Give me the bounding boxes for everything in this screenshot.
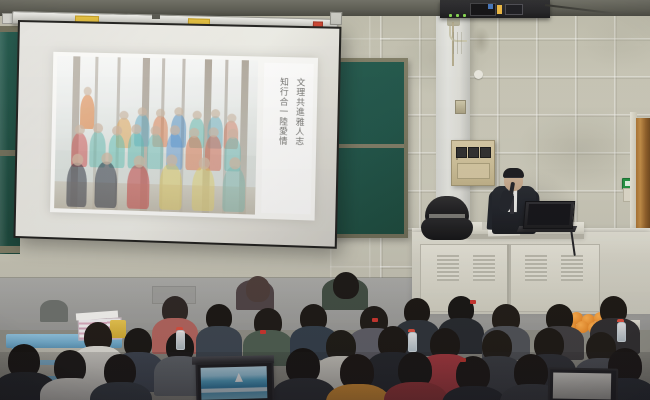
panel-switch-icon[interactable] <box>480 147 491 158</box>
projector-marker-icon <box>497 5 502 14</box>
badge-icon <box>470 300 476 304</box>
projection-screen[interactable]: 文理共進雅人志 知行合一陸愛情 <box>13 20 341 249</box>
lecture-hall-photo: 文理共進雅人志 知行合一陸愛情 dark suit microphone <box>0 0 650 400</box>
blackboard-glare <box>0 26 8 254</box>
roller-fitting-icon <box>152 14 160 19</box>
badge-icon <box>260 330 266 334</box>
wall-socket-icon[interactable] <box>455 100 466 114</box>
water-bottle <box>408 332 417 352</box>
blackboard-divider <box>334 144 404 148</box>
wall-stain <box>468 26 494 64</box>
badge-icon <box>372 318 378 322</box>
vent-icon <box>561 255 583 281</box>
roller-end-bracket <box>330 12 342 25</box>
projector-indicator-icon <box>488 4 493 9</box>
blackboard-surface <box>334 62 404 234</box>
blackboard <box>330 58 408 238</box>
status-led-icon <box>463 14 466 17</box>
bottle-cap-icon <box>617 319 624 322</box>
water-bottle <box>176 330 185 350</box>
glasses-icon <box>505 177 522 181</box>
bottle-cap-icon <box>176 327 183 330</box>
panel-indicator-icon <box>456 158 458 160</box>
podium-desktop-edge <box>466 234 584 239</box>
presenter-laptop[interactable] <box>523 201 575 229</box>
electrical-panel[interactable] <box>451 140 495 186</box>
vent-icon <box>525 255 547 281</box>
blackboard-tray <box>0 246 20 253</box>
screen-sheen <box>15 22 339 247</box>
bottle-cap-icon <box>408 329 415 332</box>
projector-vent-icon <box>505 4 523 15</box>
panel-switch-icon[interactable] <box>468 147 479 158</box>
office-chair-seat[interactable] <box>421 218 473 240</box>
audience-head <box>333 272 359 299</box>
water-bottle <box>617 322 626 342</box>
wall-fixture-icon <box>474 70 483 79</box>
presenter-laptop-screen <box>527 204 571 225</box>
status-led-icon <box>456 14 459 17</box>
vent-icon <box>437 255 459 281</box>
audience-person <box>40 300 68 322</box>
foreground-shadow <box>0 352 650 400</box>
vent-icon <box>473 255 495 281</box>
status-led-icon <box>449 14 452 17</box>
screen-surface: 文理共進雅人志 知行合一陸愛情 <box>15 22 339 247</box>
audience-head <box>246 276 270 302</box>
panel-switch-icon[interactable] <box>456 147 467 158</box>
wall-drip-stains <box>452 32 468 54</box>
panel-label <box>457 163 490 179</box>
